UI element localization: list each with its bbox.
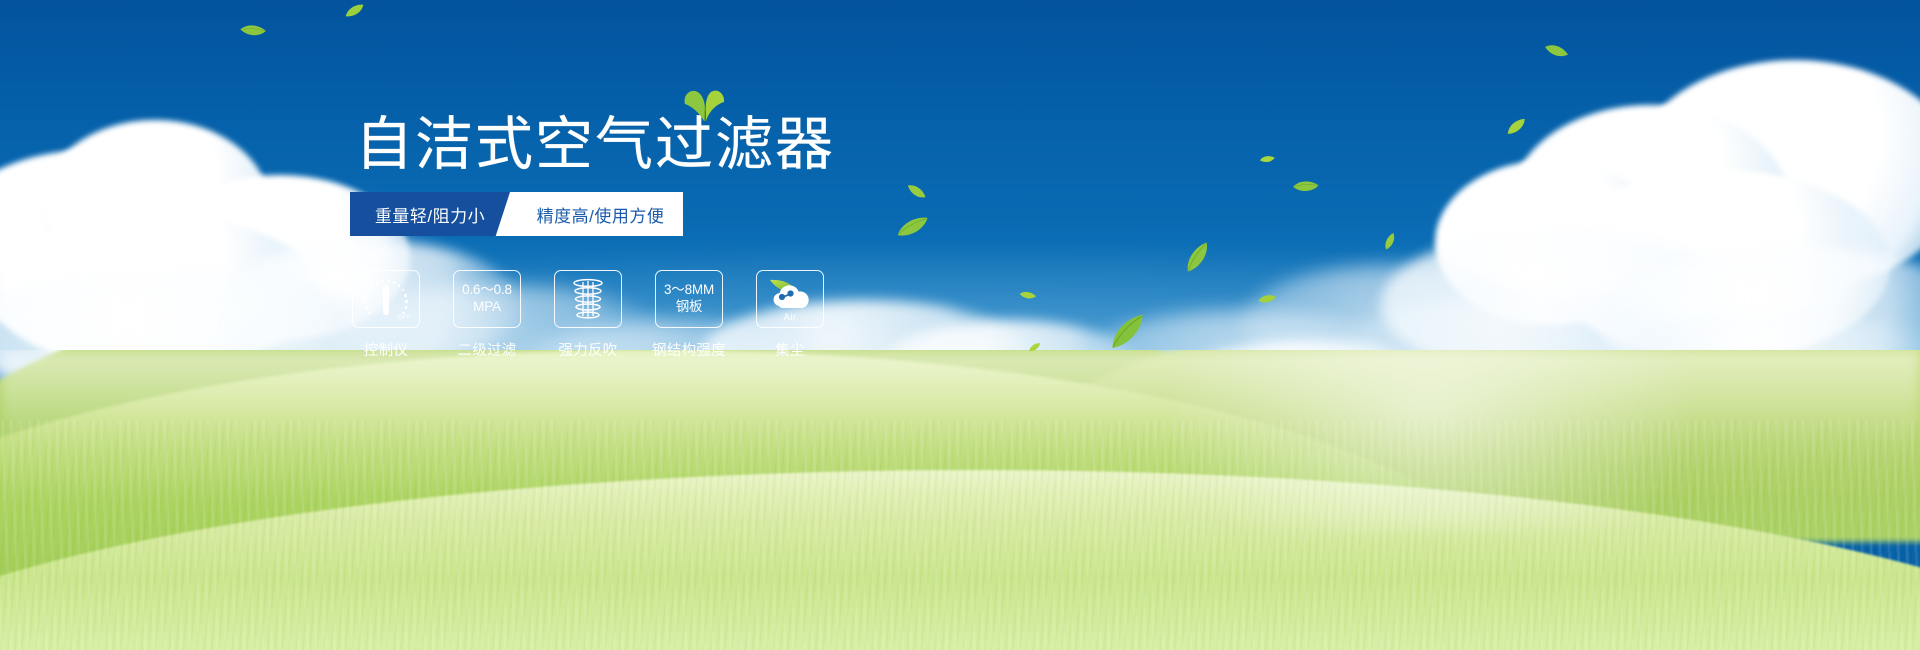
banner-hero: 自洁式空气过滤器 重量轻/阻力小 精度高/使用方便 (0, 0, 1920, 650)
feature-item-steel-strength[interactable]: 3〜8MM 钢板 钢结构强度 (655, 270, 723, 360)
feature-label: 钢结构强度 (652, 339, 726, 360)
feature-label: 控制仪 (364, 339, 408, 360)
feature-item-strong-backblow[interactable]: 强力反吹 (554, 270, 622, 360)
feature-box-text-line2: MPA (473, 299, 501, 316)
feature-item-two-stage-filter[interactable]: 0.6〜0.8 MPA 二级过滤 (453, 270, 521, 360)
feature-icon-box: 0.6〜0.8 MPA (453, 270, 521, 328)
tab-label: 重量轻/阻力小 (375, 202, 485, 227)
feature-label: 强力反吹 (558, 339, 617, 360)
page-title: 自洁式空气过滤器 (355, 116, 835, 174)
gauge-label-off: OFF (398, 315, 411, 321)
feature-tabs: 重量轻/阻力小 精度高/使用方便 (350, 192, 683, 236)
tab-weight-resistance[interactable]: 重量轻/阻力小 (350, 192, 510, 236)
feature-box-text-line1: 0.6〜0.8 (462, 282, 512, 299)
cloud-air-icon: Air (762, 276, 818, 322)
leaf-sprout-icon (682, 88, 728, 127)
leaf-icon (1257, 293, 1277, 308)
cloud-air-caption: Air (762, 312, 818, 323)
feature-label: 二级过滤 (457, 339, 516, 360)
filter-discs-icon (565, 276, 611, 322)
feature-icon-box: NO OFF (352, 270, 420, 328)
tab-label: 精度高/使用方便 (537, 202, 665, 227)
gauge-label-no: NO (360, 296, 370, 302)
feature-label: 集尘 (775, 339, 805, 360)
feature-list: NO OFF 控制仪 0.6〜0.8 MPA 二级过滤 (352, 270, 824, 360)
feature-icon-box: Air (756, 270, 824, 328)
feature-box-text-line1: 3〜8MM (664, 282, 714, 299)
feature-icon-box (554, 270, 622, 328)
feature-item-dust-collection[interactable]: Air 集尘 (756, 270, 824, 360)
leaf-icon (895, 216, 932, 244)
gauge-icon: NO OFF (360, 276, 412, 322)
feature-icon-box: 3〜8MM 钢板 (655, 270, 723, 328)
feature-item-controller[interactable]: NO OFF 控制仪 (352, 270, 420, 360)
feature-box-text-line2: 钢板 (676, 299, 703, 316)
grass-field (0, 350, 1920, 650)
tab-precision-usability[interactable]: 精度高/使用方便 (518, 192, 683, 236)
